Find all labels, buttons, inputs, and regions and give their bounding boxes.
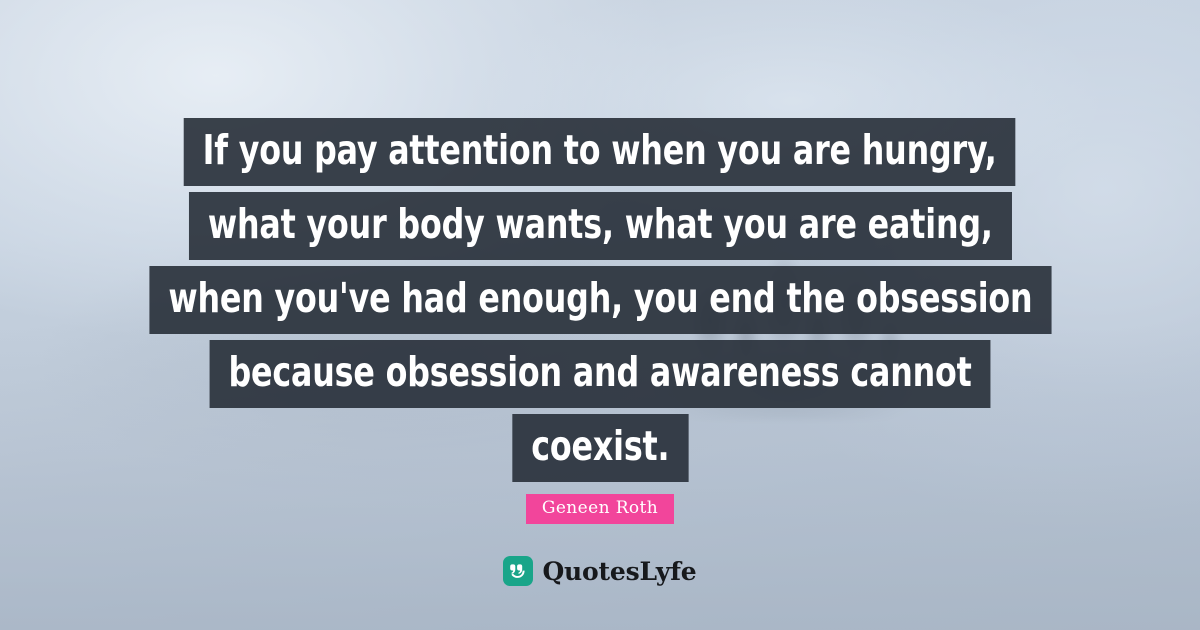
- quote-line: when you've had enough, you end the obse…: [149, 266, 1051, 334]
- quote-line: what your body wants, what you are eatin…: [189, 192, 1012, 260]
- attribution-row: Geneen Roth: [0, 494, 1200, 524]
- brand-name: QuotesLyfe: [542, 559, 696, 584]
- quote-marks-icon: [503, 556, 533, 586]
- quote-line: coexist.: [512, 414, 688, 482]
- quote-text-block: If you pay attention to when you are hun…: [0, 118, 1200, 488]
- brand-logo[interactable]: QuotesLyfe: [0, 556, 1200, 586]
- quote-card: If you pay attention to when you are hun…: [0, 0, 1200, 630]
- quote-line: If you pay attention to when you are hun…: [184, 118, 1016, 186]
- quote-line: because obsession and awareness cannot: [209, 340, 990, 408]
- author-badge[interactable]: Geneen Roth: [526, 494, 674, 524]
